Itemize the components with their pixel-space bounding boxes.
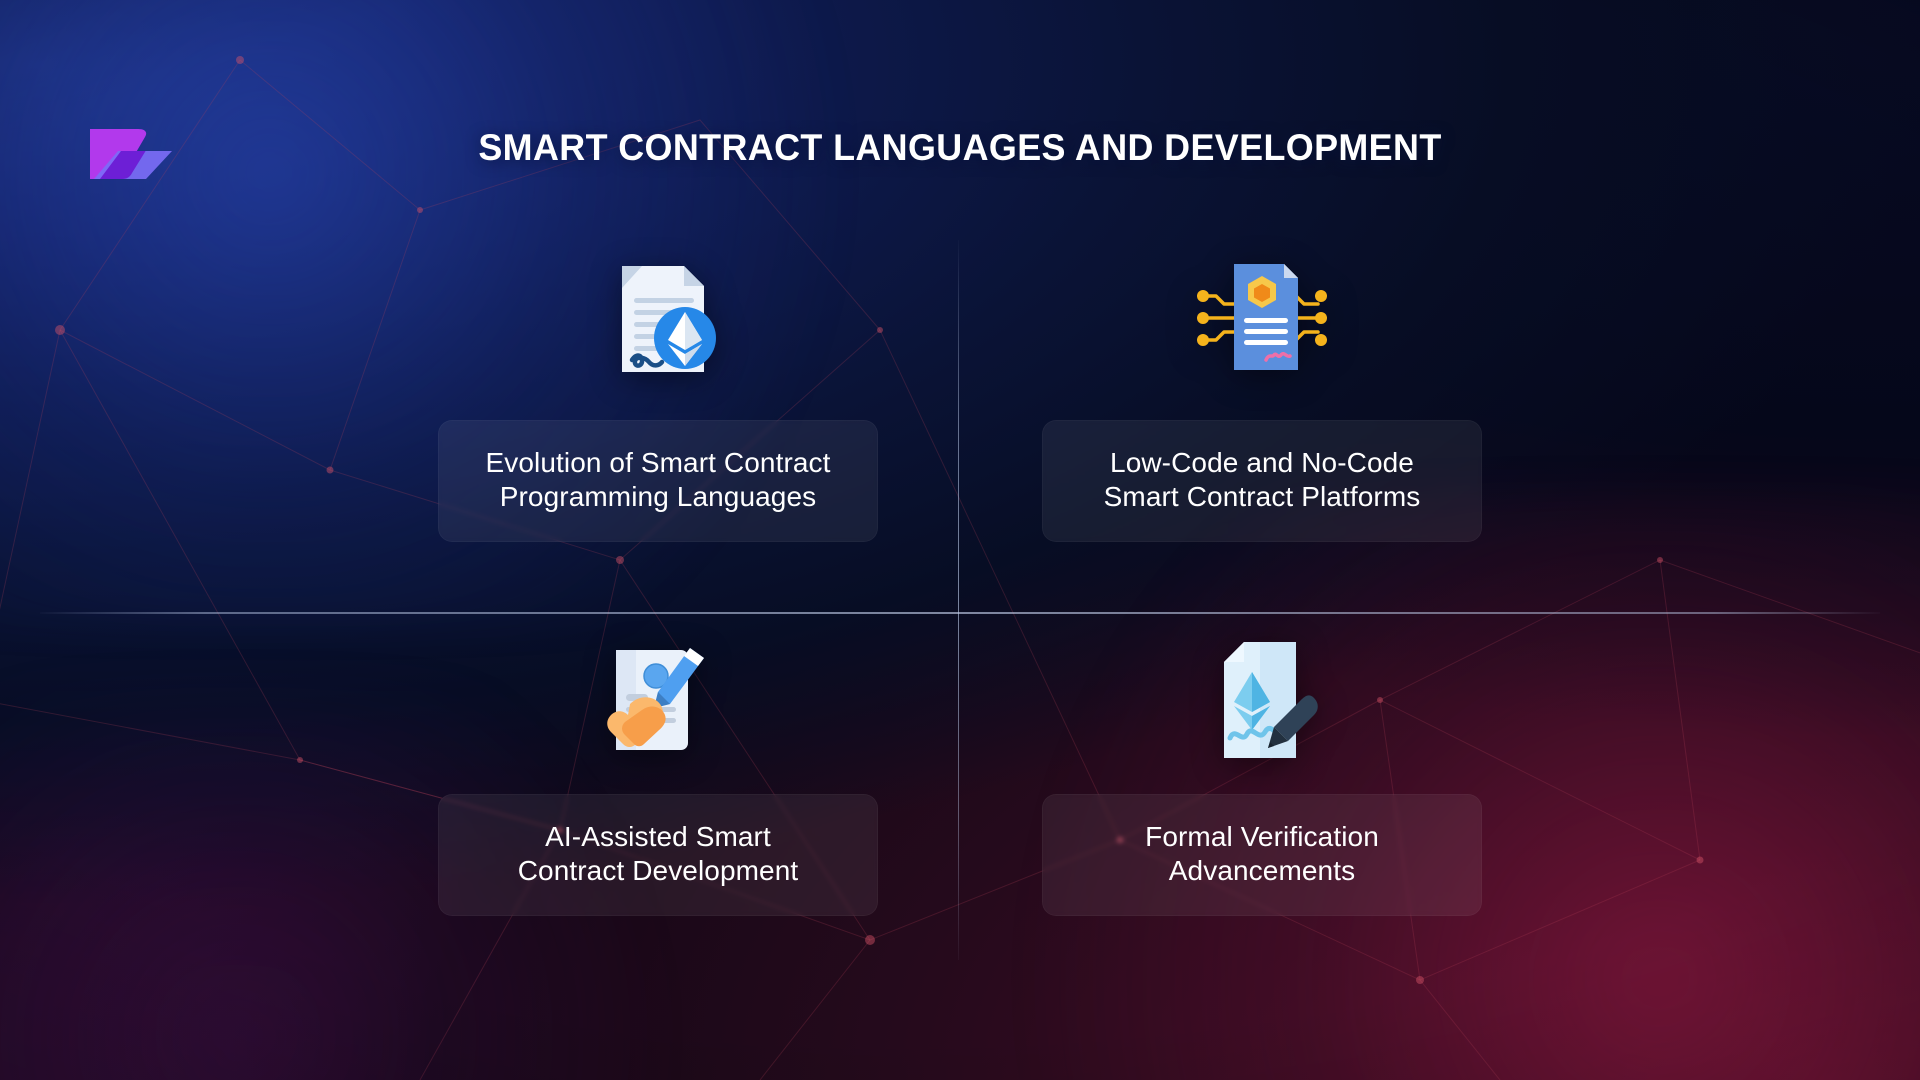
quadrant-2-line-2: Smart Contract Platforms bbox=[1062, 480, 1462, 514]
quadrant-4: Formal Verification Advancements bbox=[942, 620, 1582, 916]
quadrant-2: Low-Code and No-Code Smart Contract Plat… bbox=[942, 238, 1582, 542]
quadrant-2-line-1: Low-Code and No-Code bbox=[1062, 446, 1462, 480]
ethereum-verification-pen-icon bbox=[942, 620, 1582, 780]
quadrant-2-card[interactable]: Low-Code and No-Code Smart Contract Plat… bbox=[1042, 420, 1482, 542]
quadrant-4-line-1: Formal Verification bbox=[1062, 820, 1462, 854]
quadrant-4-card[interactable]: Formal Verification Advancements bbox=[1042, 794, 1482, 916]
quadrant-1-line-2: Programming Languages bbox=[458, 480, 858, 514]
quadrant-3-line-1: AI-Assisted Smart bbox=[458, 820, 858, 854]
quadrant-1-line-1: Evolution of Smart Contract bbox=[458, 446, 858, 480]
contract-ethereum-icon bbox=[338, 238, 978, 398]
ai-contract-handshake-icon bbox=[338, 620, 978, 780]
smart-contract-circuit-icon bbox=[942, 238, 1582, 398]
quadrant-4-line-2: Advancements bbox=[1062, 854, 1462, 888]
quadrant-3: AI-Assisted Smart Contract Development bbox=[338, 620, 978, 916]
quadrant-1: Evolution of Smart Contract Programming … bbox=[338, 238, 978, 542]
quadrant-grid: Evolution of Smart Contract Programming … bbox=[0, 0, 1920, 1080]
quadrant-3-line-2: Contract Development bbox=[458, 854, 858, 888]
quadrant-3-card[interactable]: AI-Assisted Smart Contract Development bbox=[438, 794, 878, 916]
quadrant-1-card[interactable]: Evolution of Smart Contract Programming … bbox=[438, 420, 878, 542]
